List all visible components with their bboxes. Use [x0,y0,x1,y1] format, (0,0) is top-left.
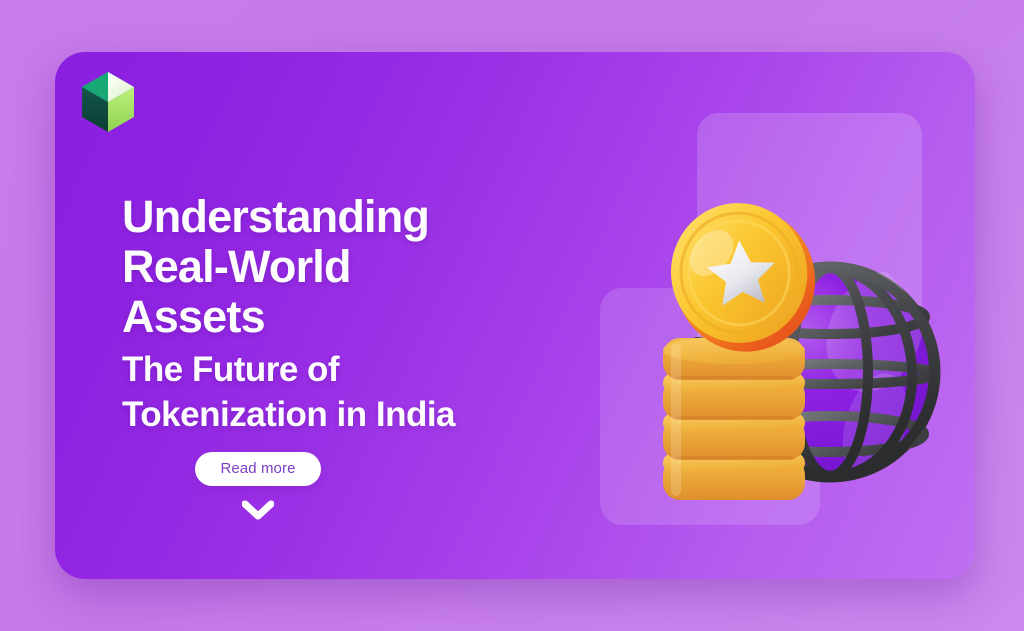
subhead-line-2: Tokenization in India [122,392,602,437]
headline-line-2: Real-World [122,242,602,292]
coin-stack [663,336,805,500]
brand-logo[interactable] [79,70,137,134]
headline-line-3: Assets [122,292,602,342]
globe-with-gold-coins-illustration [575,162,965,532]
hexagon-cube-logo-icon [79,70,137,134]
chevron-down-icon[interactable] [242,500,274,520]
page-subtitle: The Future of Tokenization in India [122,347,602,437]
read-more-button[interactable]: Read more [195,452,320,486]
cta-group: Read more [158,452,358,520]
hero-card: Understanding Real-World Assets The Futu… [55,52,975,579]
copy-block: Understanding Real-World Assets The Futu… [122,192,602,437]
page-title: Understanding Real-World Assets [122,192,602,342]
headline-line-1: Understanding [122,192,602,242]
subhead-line-1: The Future of [122,347,602,392]
page-stage: Understanding Real-World Assets The Futu… [0,0,1024,631]
